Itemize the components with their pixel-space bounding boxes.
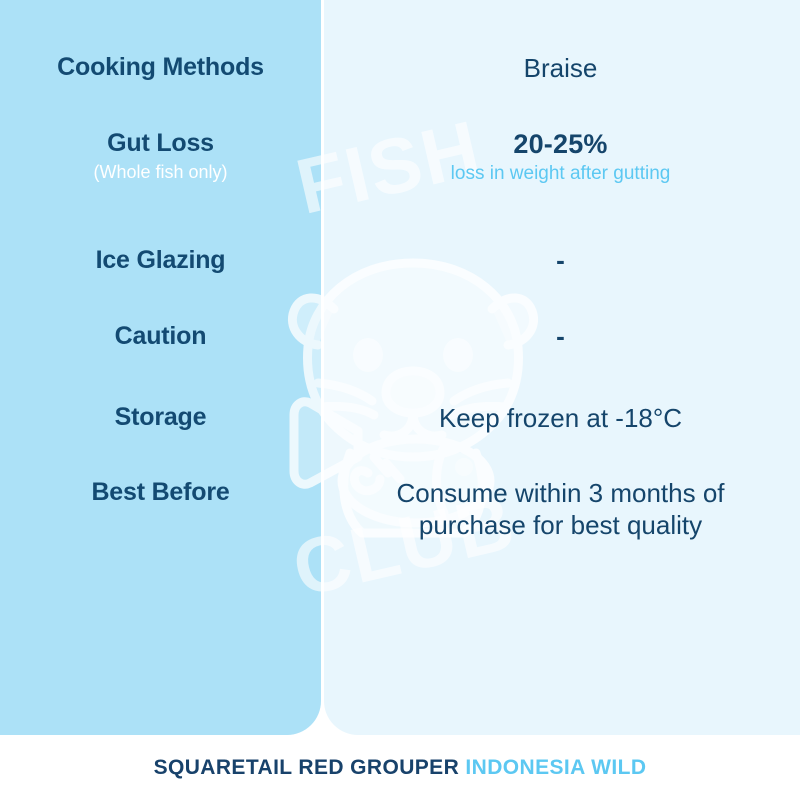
- label-cell-cooking-methods: Cooking Methods: [0, 52, 321, 82]
- label-cell-ice-glazing: Ice Glazing: [0, 245, 321, 275]
- row-value: Keep frozen at -18°C: [345, 402, 776, 434]
- product-origin: INDONESIA WILD: [465, 756, 646, 779]
- value-cell-best-before: Consume within 3 months of purchase for …: [321, 477, 800, 541]
- label-cell-gut-loss: Gut Loss (Whole fish only): [0, 128, 321, 184]
- row-value: Consume within 3 months of purchase for …: [345, 477, 776, 541]
- row-label: Ice Glazing: [14, 245, 307, 275]
- row-subvalue: loss in weight after gutting: [345, 161, 776, 187]
- row-label: Storage: [14, 402, 307, 432]
- value-cell-storage: Keep frozen at -18°C: [321, 402, 800, 434]
- product-info-card: FISH CLUB: [0, 0, 800, 800]
- row-label: Caution: [14, 321, 307, 351]
- row-value: -: [345, 245, 776, 275]
- value-cell-ice-glazing: -: [321, 245, 800, 275]
- value-cell-cooking-methods: Braise: [321, 52, 800, 84]
- row-gut-loss: Gut Loss (Whole fish only) 20-25% loss i…: [0, 128, 800, 187]
- row-sublabel: (Whole fish only): [14, 160, 307, 184]
- spec-rows: Cooking Methods Braise Gut Loss (Whole f…: [0, 0, 800, 735]
- label-cell-caution: Caution: [0, 321, 321, 351]
- label-cell-best-before: Best Before: [0, 477, 321, 507]
- product-name: SQUARETAIL RED GROUPER: [154, 756, 460, 779]
- row-value: 20-25%: [345, 128, 776, 160]
- footer-caption: SQUARETAIL RED GROUPER INDONESIA WILD: [154, 756, 647, 780]
- row-label: Cooking Methods: [14, 52, 307, 82]
- label-cell-storage: Storage: [0, 402, 321, 432]
- value-cell-caution: -: [321, 321, 800, 351]
- row-storage: Storage Keep frozen at -18°C: [0, 402, 800, 434]
- row-best-before: Best Before Consume within 3 months of p…: [0, 477, 800, 541]
- row-value: Braise: [345, 52, 776, 84]
- row-value: -: [345, 321, 776, 351]
- value-cell-gut-loss: 20-25% loss in weight after gutting: [321, 128, 800, 187]
- row-ice-glazing: Ice Glazing -: [0, 245, 800, 275]
- footer-bar: SQUARETAIL RED GROUPER INDONESIA WILD: [0, 735, 800, 800]
- row-label: Gut Loss: [14, 128, 307, 158]
- row-caution: Caution -: [0, 321, 800, 351]
- row-label: Best Before: [14, 477, 307, 507]
- row-cooking-methods: Cooking Methods Braise: [0, 52, 800, 84]
